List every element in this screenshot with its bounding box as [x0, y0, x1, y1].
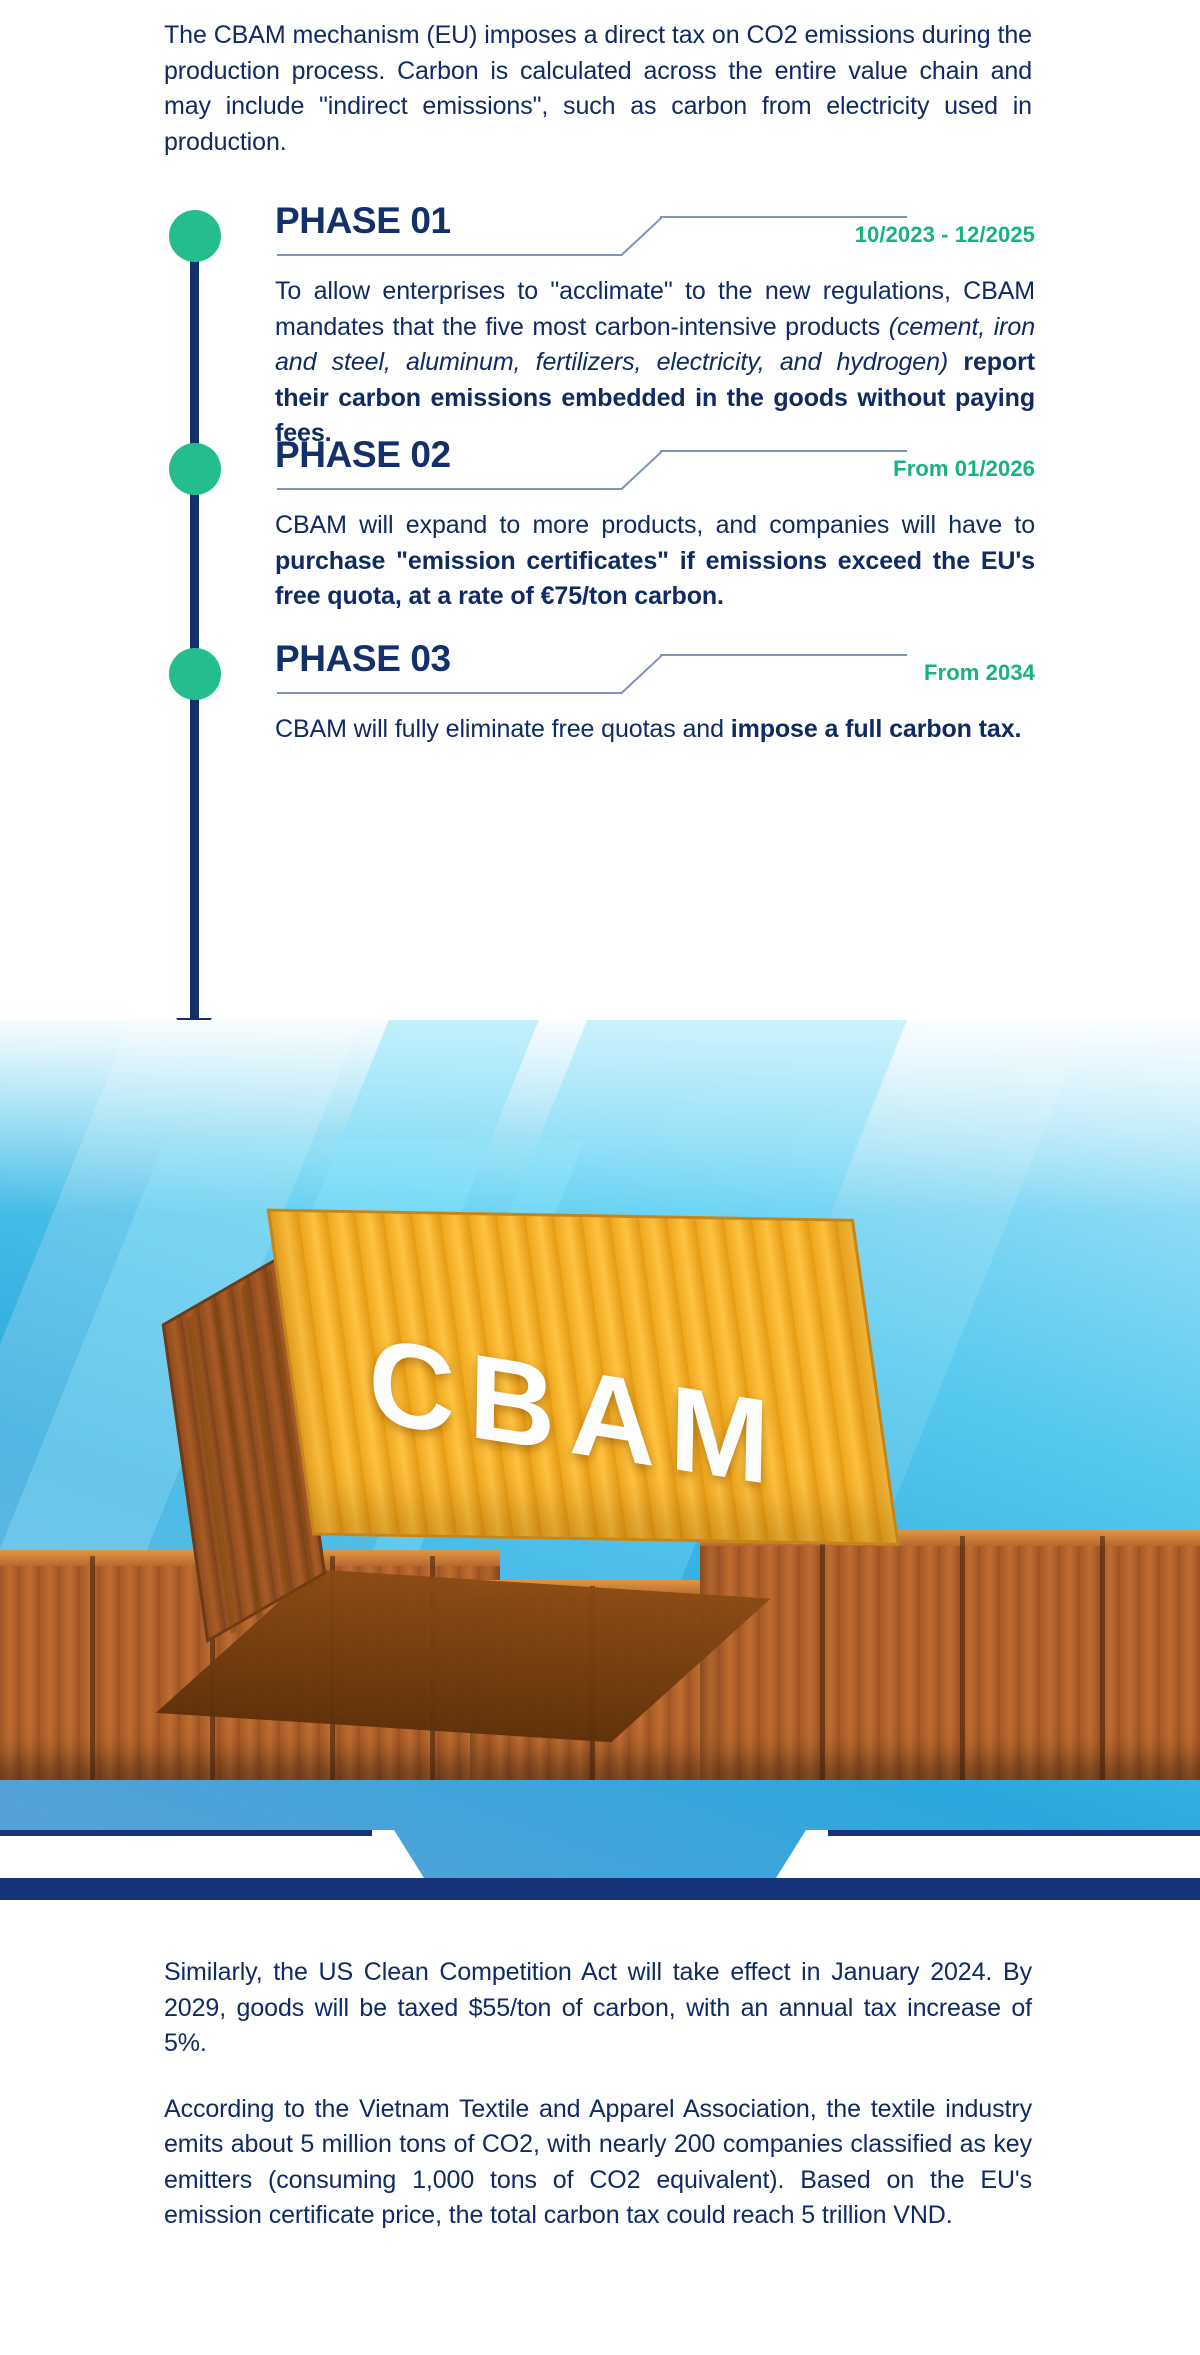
intro-section: The CBAM mechanism (EU) imposes a direct… — [164, 18, 1032, 160]
outro-paragraph-2: According to the Vietnam Textile and App… — [164, 2092, 1032, 2234]
outro-section: Similarly, the US Clean Competition Act … — [164, 1955, 1032, 2234]
frame-white-left — [0, 1830, 370, 1878]
phase-02-body: CBAM will expand to more products, and c… — [275, 508, 1035, 615]
phase-01-title: PHASE 01 — [275, 200, 451, 242]
phase-03-rule-diagonal — [620, 654, 662, 694]
phase-block-02: PHASE 02 From 01/2026 CBAM will expand t… — [275, 434, 1035, 615]
timeline-dot-phase-01 — [169, 210, 221, 262]
frame-navy-line-left — [0, 1830, 372, 1836]
phase-02-title: PHASE 02 — [275, 434, 451, 476]
phase-block-03: PHASE 03 From 2034 CBAM will fully elimi… — [275, 638, 1035, 748]
hero-image: CBAM — [0, 1020, 1200, 1900]
phase-02-header: PHASE 02 From 01/2026 — [275, 434, 1035, 498]
timeline-dot-phase-03 — [169, 648, 221, 700]
cbam-container-front-face — [267, 1209, 900, 1546]
phase-01-body: To allow enterprises to "acclimate" to t… — [275, 274, 1035, 452]
phase-02-date: From 01/2026 — [893, 456, 1035, 482]
frame-white-right — [830, 1830, 1200, 1878]
timeline-dot-phase-02 — [169, 443, 221, 495]
phase-02-rule-diagonal — [620, 450, 662, 490]
phase-02-rule-high — [660, 450, 907, 452]
container-seam — [1100, 1536, 1105, 1780]
phase-01-header: PHASE 01 10/2023 - 12/2025 — [275, 200, 1035, 264]
phase-01-rule-high — [660, 216, 907, 218]
phase-03-rule-high — [660, 654, 907, 656]
phase-02-rule-low — [277, 488, 622, 490]
intro-paragraph: The CBAM mechanism (EU) imposes a direct… — [164, 18, 1032, 160]
frame-navy-bar — [0, 1878, 1200, 1900]
container-seam — [960, 1536, 965, 1780]
frame-navy-line-right — [828, 1830, 1200, 1836]
phase-03-header: PHASE 03 From 2034 — [275, 638, 1035, 702]
container-seam — [90, 1556, 95, 1780]
phase-03-title: PHASE 03 — [275, 638, 451, 680]
timeline-spine — [190, 232, 199, 1032]
phase-03-date: From 2034 — [924, 660, 1035, 686]
outro-paragraph-1: Similarly, the US Clean Competition Act … — [164, 1955, 1032, 2062]
phase-03-rule-low — [277, 692, 622, 694]
hero-bottom-frame — [0, 1830, 1200, 1900]
phase-01-rule-diagonal — [620, 216, 662, 256]
phase-03-body: CBAM will fully eliminate free quotas an… — [275, 712, 1035, 748]
infographic-page: The CBAM mechanism (EU) imposes a direct… — [0, 0, 1200, 2355]
timeline: PHASE 01 10/2023 - 12/2025 To allow ente… — [0, 200, 1200, 1040]
phase-block-01: PHASE 01 10/2023 - 12/2025 To allow ente… — [275, 200, 1035, 452]
phase-01-rule-low — [277, 254, 622, 256]
phase-01-date: 10/2023 - 12/2025 — [855, 222, 1035, 248]
